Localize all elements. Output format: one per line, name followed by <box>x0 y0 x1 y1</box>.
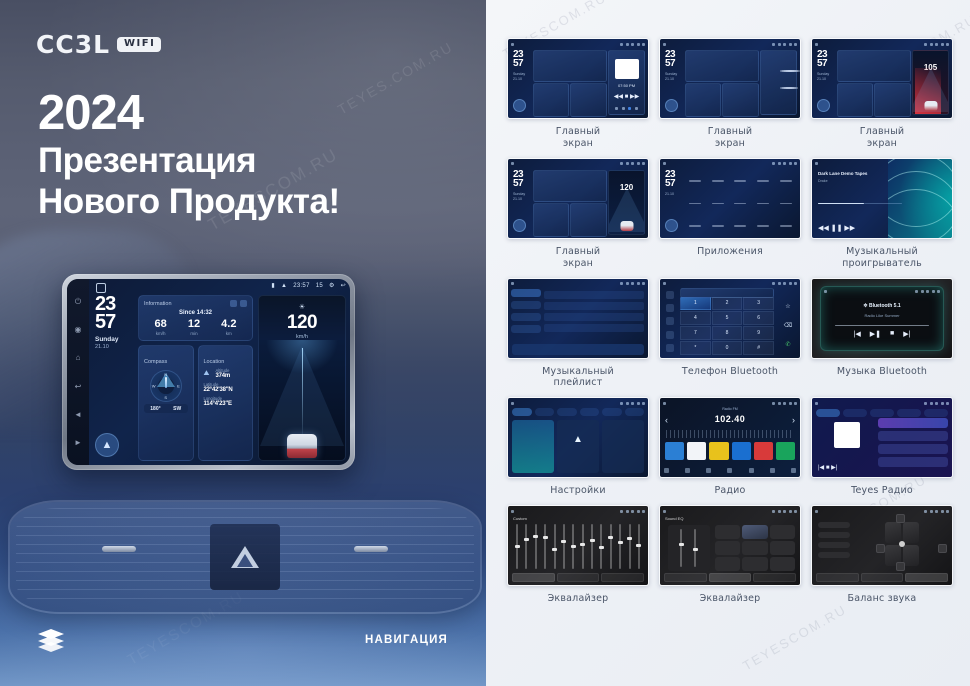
clock-icon <box>626 402 629 405</box>
volume-icon <box>631 510 634 513</box>
dial-key[interactable]: 7 <box>680 326 711 340</box>
back-icon <box>794 282 797 285</box>
eq-slider[interactable] <box>629 524 631 569</box>
eq-tabs[interactable] <box>664 573 796 582</box>
thumb-music-pane: 07:50 PM◀◀ ■ ▶▶ <box>608 50 645 115</box>
dial-key[interactable]: 3 <box>743 297 774 311</box>
thumb-home-screen-4[interactable]: 2357Sunday21.10120Главныйэкран <box>508 158 648 270</box>
previous-icon[interactable]: |◀ <box>854 330 861 338</box>
thumb-compass-card <box>685 83 721 117</box>
settings-tab[interactable] <box>535 408 555 416</box>
phone-sidebar[interactable] <box>663 289 677 355</box>
stat-value: 68 <box>155 319 167 330</box>
thumb-radio[interactable]: Radio FM‹›102.40Радио <box>660 397 800 497</box>
playlist-category[interactable] <box>511 289 541 297</box>
screenshot-preview[interactable]: Dark Lane Demo TapesDrake◀◀ ❚❚ ▶▶ <box>811 158 953 239</box>
gear-icon <box>789 402 792 405</box>
home-icon <box>663 43 666 46</box>
settings-icon[interactable] <box>666 344 674 352</box>
compass-w: W <box>152 384 156 389</box>
clock-icon <box>778 510 781 513</box>
radio-frequency: 102.40 <box>715 414 746 424</box>
volume-icon <box>631 43 634 46</box>
vent-wheel-right[interactable] <box>354 546 388 552</box>
thumb-status-bar <box>663 508 797 514</box>
playlist-row[interactable] <box>544 313 644 321</box>
home-button-icon[interactable] <box>96 283 106 293</box>
keypad-icon[interactable] <box>666 291 674 299</box>
speaker-front-left[interactable] <box>885 522 901 543</box>
home-icon <box>663 282 666 285</box>
st-icon[interactable] <box>770 468 775 473</box>
dial-key[interactable]: * <box>680 341 711 355</box>
balance-up-button[interactable] <box>896 514 905 523</box>
band-icon[interactable] <box>664 468 669 473</box>
clock-icon <box>626 162 629 165</box>
eq-tabs[interactable] <box>512 573 644 582</box>
album-art <box>615 59 639 79</box>
playlist-row[interactable] <box>544 291 644 299</box>
screenshot-preview[interactable]: |◀ ■ ▶| <box>811 397 953 478</box>
screenshot-gallery: TEYESCOM.RU TEYESCOM.RU TEYESCOM.RU TEYE… <box>486 0 970 686</box>
balance-left-button[interactable] <box>876 544 885 553</box>
settings-tab[interactable] <box>512 408 532 416</box>
dial-key[interactable]: 9 <box>743 326 774 340</box>
screenshot-preview[interactable]: 2357Sunday21.10 <box>659 38 801 119</box>
volume-icon <box>935 43 938 46</box>
dashboard-air-vents <box>10 502 480 612</box>
bluetooth-track: Radio Like Summer <box>821 313 943 318</box>
dial-key[interactable]: # <box>743 341 774 355</box>
station-preset[interactable] <box>754 442 773 460</box>
screenshot-caption: Эквалайзер <box>548 593 609 605</box>
eq-slider[interactable] <box>572 524 574 569</box>
eq-slider[interactable] <box>600 524 602 569</box>
eq-slider[interactable] <box>535 524 537 569</box>
search-icon[interactable] <box>666 317 674 325</box>
hero-heading: 2024 Презентация Нового Продукта! <box>38 88 340 223</box>
gear-icon[interactable]: ⚙ <box>329 282 335 289</box>
dial-pad[interactable]: 123456789*0# <box>680 297 774 355</box>
radio-toolbar[interactable] <box>664 467 796 474</box>
frequency-scale[interactable] <box>666 430 794 438</box>
information-actions[interactable] <box>230 300 247 307</box>
brand-name: CC3L <box>36 30 110 59</box>
player-controls[interactable]: ◀◀ ❚❚ ▶▶ <box>818 224 855 232</box>
screenshot-preview[interactable]: 235721.10 <box>659 158 801 239</box>
eq-slider[interactable] <box>638 524 640 569</box>
eq-tab[interactable] <box>753 573 796 582</box>
eq-icon[interactable] <box>727 468 732 473</box>
album-art <box>834 422 860 448</box>
wifi-icon: ▲ <box>512 434 644 445</box>
settings-tab[interactable] <box>557 408 577 416</box>
thumb-status-bar <box>511 161 645 167</box>
menu-icon[interactable] <box>791 468 796 473</box>
bluetooth-controls[interactable]: |◀▶❚■▶| <box>821 330 943 338</box>
thumb-info-card <box>533 50 607 82</box>
clock-icon <box>626 510 629 513</box>
home-icon <box>511 282 514 285</box>
screenshot-preview[interactable]: ✲ Bluetooth 5.1Radio Like Summer|◀▶❚■▶| <box>811 278 953 359</box>
road-visual <box>259 340 345 460</box>
home-icon <box>511 510 514 513</box>
settings-tabs[interactable] <box>512 408 644 416</box>
screenshot-caption: Эквалайзер <box>700 593 761 605</box>
teyes-station-row[interactable] <box>878 418 948 428</box>
eq-preset-grid[interactable] <box>715 525 795 571</box>
eq-slider[interactable] <box>544 524 546 569</box>
thumb-speed-pane: 105 <box>912 50 949 115</box>
eq-fader-panel[interactable] <box>668 525 710 571</box>
speed-widget[interactable]: ☀ 120 km/h <box>258 295 346 461</box>
clock-icon <box>626 43 629 46</box>
playlist-category[interactable] <box>511 313 541 321</box>
thumb-info-card <box>837 50 911 82</box>
phone-actions[interactable]: ☆⌫✆ <box>779 297 797 354</box>
latitude-row: Latitude 22°42'38"N <box>204 382 248 393</box>
stat-item: 12 min <box>188 319 200 336</box>
mute-icon[interactable]: ◉ <box>74 325 83 334</box>
backspace-icon[interactable]: ⌫ <box>784 322 792 329</box>
playlist-row[interactable] <box>544 302 644 310</box>
thumb-music-player[interactable]: Dark Lane Demo TapesDrake◀◀ ❚❚ ▶▶Музыкал… <box>812 158 952 270</box>
settings-cards[interactable]: ▲ <box>512 420 644 473</box>
head-unit-side-rail[interactable]: ⏻ ◉ ⌂ ↩ ◄ ► <box>67 279 89 465</box>
playlist-row[interactable] <box>544 324 644 332</box>
thumb-car <box>924 101 937 111</box>
station-preset[interactable] <box>732 442 751 460</box>
gear-icon <box>932 290 935 293</box>
screenshot-preview[interactable]: 2357Sunday21.10105 <box>811 38 953 119</box>
road-center-line <box>302 348 303 443</box>
clock-icon <box>921 290 924 293</box>
thumb-compass-card <box>533 83 569 117</box>
product-logo: CC3L WIFI <box>36 30 161 59</box>
screenshot-caption: Главныйэкран <box>556 126 601 150</box>
vent-wheel-left[interactable] <box>102 546 136 552</box>
eq-tab[interactable] <box>512 573 555 582</box>
thumb-sound-balance[interactable]: Баланс звука <box>812 505 952 605</box>
hazard-button[interactable] <box>210 524 280 590</box>
wifi-card[interactable]: ▲ <box>512 420 554 473</box>
thumb-bluetooth-phone[interactable]: 123456789*0#☆⌫✆Телефон Bluetooth <box>660 278 800 390</box>
home-icon <box>511 162 514 165</box>
dial-key[interactable]: 8 <box>712 326 743 340</box>
trip-stats: 68 km/h 12 min 4.2 <box>144 319 247 336</box>
eq-preset-button[interactable] <box>715 525 740 539</box>
eq-preset-button[interactable] <box>770 557 795 571</box>
contacts-icon[interactable] <box>666 304 674 312</box>
signal-icon <box>772 43 775 46</box>
station-preset[interactable] <box>776 442 795 460</box>
app-grid[interactable] <box>685 169 796 234</box>
back-icon <box>794 162 797 165</box>
gear-icon <box>789 162 792 165</box>
track-time: 07:50 PM <box>609 83 644 88</box>
list-icon[interactable] <box>706 468 711 473</box>
thumb-home-screen-3[interactable]: 2357Sunday21.10105Главныйэкран <box>812 38 952 150</box>
bluetooth-card: ✲ Bluetooth 5.1Radio Like Summer|◀▶❚■▶| <box>820 286 944 351</box>
thumb-status-bar <box>663 400 797 406</box>
settings-tab[interactable] <box>602 408 622 416</box>
thumb-clock: 2357 <box>665 50 675 68</box>
volume-up-icon[interactable]: ► <box>74 438 83 447</box>
eq-slider[interactable] <box>516 524 518 569</box>
screenshot-preview[interactable]: 123456789*0#☆⌫✆ <box>659 278 801 359</box>
thumb-location-card <box>570 203 607 237</box>
clock-icon <box>778 282 781 285</box>
compass-needle <box>165 377 167 388</box>
thumb-bluetooth-music[interactable]: ✲ Bluetooth 5.1Radio Like Summer|◀▶❚■▶|М… <box>812 278 952 390</box>
thumb-nav-button[interactable] <box>513 99 526 112</box>
signal-icon <box>924 43 927 46</box>
screenshot-caption: Настройки <box>550 485 605 497</box>
playlist-tracks[interactable] <box>544 291 644 342</box>
speaker-front-right[interactable] <box>903 522 919 543</box>
eq-preset-button[interactable] <box>742 557 767 571</box>
presentation-page: TEYESCOM.RU TEYESCOM.RU TEYES.COM.RU CC3… <box>0 0 970 686</box>
playlist-category[interactable] <box>511 301 541 309</box>
thumb-home-screen-1[interactable]: 2357Sunday21.1007:50 PM◀◀ ■ ▶▶Главныйэкр… <box>508 38 648 150</box>
call-icon[interactable]: ✆ <box>785 341 790 348</box>
thumb-nav-button[interactable] <box>817 99 830 112</box>
compass-direction: SW <box>173 406 181 412</box>
thumb-teyes-radio[interactable]: |◀ ■ ▶|Teyes Радио <box>812 397 952 497</box>
now-playing-bar[interactable] <box>512 344 644 355</box>
mountain-icon: ⛰ <box>204 370 213 377</box>
clock-icon <box>626 282 629 285</box>
status-bar: ▮ ▲ 23:57 15 ⚙ ↩ <box>271 282 346 289</box>
thumb-status-bar <box>824 289 940 295</box>
thumb-equalizer-2[interactable]: Sound EQЭквалайзер <box>660 505 800 605</box>
dial-key[interactable]: 4 <box>680 311 711 325</box>
signal-icon <box>772 162 775 165</box>
station-preset[interactable] <box>665 442 684 460</box>
back-icon[interactable]: ↩ <box>341 282 346 289</box>
station-presets[interactable] <box>665 442 795 460</box>
compass-widget[interactable]: Compass N S W E <box>138 345 194 461</box>
dial-key[interactable]: 5 <box>712 311 743 325</box>
screenshot-preview[interactable]: ▲ <box>507 397 649 478</box>
gear-icon <box>941 43 944 46</box>
thumb-compass-card <box>533 203 569 237</box>
compass-rose-icon: N S W E <box>150 370 182 402</box>
balance-tabs[interactable] <box>816 573 948 582</box>
thumb-applications[interactable]: 235721.10Приложения <box>660 158 800 270</box>
thumb-date: Sunday21.10 <box>665 72 677 82</box>
thumb-status-bar <box>815 41 949 47</box>
navigation-button[interactable]: ▲ <box>95 433 119 457</box>
volume-icon <box>631 402 634 405</box>
home-icon <box>815 402 818 405</box>
thumb-nav-button[interactable] <box>665 99 678 112</box>
speaker-rear-right[interactable] <box>903 545 919 566</box>
expand-icon[interactable] <box>240 300 247 307</box>
player-controls[interactable]: ◀◀ ■ ▶▶ <box>609 93 644 100</box>
eq-tab[interactable] <box>905 573 948 582</box>
back-icon[interactable]: ↩ <box>74 382 83 391</box>
balance-down-button[interactable] <box>896 562 905 571</box>
fader[interactable] <box>694 529 696 567</box>
station-preset[interactable] <box>687 442 706 460</box>
bluetooth-title: ✲ Bluetooth 5.1 <box>821 303 943 309</box>
back-icon <box>794 510 797 513</box>
thumb-equalizer-1[interactable]: CustomЭквалайзер <box>508 505 648 605</box>
thumb-music-playlist[interactable]: Музыкальныйплейлист <box>508 278 648 390</box>
eq-preset-button[interactable] <box>742 541 767 555</box>
gear-icon <box>637 282 640 285</box>
headlight-icon: ☀ <box>299 303 305 311</box>
compass-s: S <box>164 395 167 400</box>
screenshot-preview[interactable]: 2357Sunday21.10120 <box>507 158 649 239</box>
balance-preset[interactable] <box>818 522 850 528</box>
home-icon[interactable]: ⌂ <box>74 353 83 362</box>
equalizer-sliders[interactable] <box>516 524 640 569</box>
search-icon[interactable] <box>685 468 690 473</box>
teyes-station-row[interactable] <box>878 431 948 441</box>
dial-key[interactable]: 2 <box>712 297 743 311</box>
eq-slider[interactable] <box>610 524 612 569</box>
screenshot-preview[interactable] <box>811 505 953 586</box>
settings-tab[interactable] <box>580 408 600 416</box>
player-footer[interactable] <box>613 107 640 110</box>
balance-right-button[interactable] <box>938 544 947 553</box>
power-icon[interactable]: ⏻ <box>74 297 83 306</box>
loc-icon[interactable] <box>749 468 754 473</box>
eq-tab[interactable] <box>709 573 752 582</box>
dial-key[interactable]: 0 <box>712 341 743 355</box>
teyes-controls[interactable]: |◀ ■ ▶| <box>818 464 837 471</box>
gear-icon <box>637 402 640 405</box>
stop-icon[interactable]: ■ <box>890 330 894 338</box>
favorite-icon[interactable]: ☆ <box>785 303 790 310</box>
altitude-value: 374m <box>216 373 231 379</box>
gallery-grid: 2357Sunday21.1007:50 PM◀◀ ■ ▶▶Главныйэкр… <box>508 38 952 605</box>
station-preset[interactable] <box>709 442 728 460</box>
prev-station-icon[interactable]: ‹ <box>665 415 668 425</box>
thumb-back-button[interactable] <box>665 219 678 232</box>
eq-tab[interactable] <box>601 573 644 582</box>
back-icon <box>642 402 645 405</box>
home-icon <box>511 43 514 46</box>
teyes-station-row[interactable] <box>878 444 948 454</box>
car-3d-model <box>287 434 317 458</box>
volume-icon <box>783 402 786 405</box>
signal-icon <box>620 510 623 513</box>
volume-icon <box>935 510 938 513</box>
eq-tab[interactable] <box>557 573 600 582</box>
eq-tab[interactable] <box>664 573 707 582</box>
thumb-settings[interactable]: ▲Настройки <box>508 397 648 497</box>
eq-slider[interactable] <box>619 524 621 569</box>
screenshot-preview[interactable]: 2357Sunday21.1007:50 PM◀◀ ■ ▶▶ <box>507 38 649 119</box>
screenshot-preview[interactable]: Radio FM‹›102.40 <box>659 397 801 478</box>
music-visualizer <box>888 159 952 238</box>
eq-slider[interactable] <box>582 524 584 569</box>
head-unit-screen[interactable]: ⏻ ◉ ⌂ ↩ ◄ ► ▮ ▲ 23:57 15 <box>67 279 350 465</box>
dial-key[interactable]: 1 <box>680 297 711 311</box>
carplay-card[interactable] <box>557 420 599 473</box>
eq-slider[interactable] <box>525 524 527 569</box>
balance-presets[interactable] <box>818 522 850 562</box>
screenshot-preview[interactable]: Sound EQ <box>659 505 801 586</box>
eq-slider[interactable] <box>563 524 565 569</box>
teyes-station-row[interactable] <box>878 457 948 467</box>
volume-down-icon[interactable]: ◄ <box>74 410 83 419</box>
information-card[interactable]: Information Since 14:32 <box>138 295 253 341</box>
next-icon[interactable]: ▶| <box>903 330 910 338</box>
eq-slider[interactable] <box>591 524 593 569</box>
next-station-icon[interactable]: › <box>792 415 795 425</box>
location-title: Location <box>204 359 225 365</box>
app-grid[interactable] <box>786 61 792 110</box>
eq-tab[interactable] <box>861 573 904 582</box>
compass-readout: 180° SW <box>144 404 188 413</box>
signal-icon <box>620 162 623 165</box>
balance-center-point[interactable] <box>899 541 905 547</box>
thumb-nav-button[interactable] <box>513 219 526 232</box>
screenshot-preview[interactable]: Custom <box>507 505 649 586</box>
balance-pad[interactable] <box>885 522 919 566</box>
screenshot-preview[interactable] <box>507 278 649 359</box>
balance-preset[interactable] <box>818 542 850 548</box>
hero-line-2: Нового Продукта! <box>38 182 340 223</box>
balance-preset[interactable] <box>818 552 850 558</box>
thumb-info-card <box>685 50 759 82</box>
more-card[interactable] <box>602 420 644 473</box>
eq-tab[interactable] <box>816 573 859 582</box>
home-icon <box>815 510 818 513</box>
dial-key[interactable]: 6 <box>743 311 774 325</box>
altitude-row: ⛰ Altitude 374m <box>204 368 248 379</box>
location-widget[interactable]: Location ⛰ Altitude 374m <box>198 345 254 461</box>
hero-year: 2024 <box>38 88 340 139</box>
thumb-app-pane <box>760 50 797 115</box>
thumb-home-screen-2[interactable]: 2357Sunday21.10Главныйэкран <box>660 38 800 150</box>
home-icon <box>511 402 514 405</box>
eq-preset-button[interactable] <box>742 525 767 539</box>
thumb-status-bar <box>815 400 949 406</box>
balance-preset[interactable] <box>818 532 850 538</box>
eq-preset-button[interactable] <box>715 557 740 571</box>
eq-slider[interactable] <box>554 524 556 569</box>
playlist-category[interactable] <box>511 325 541 333</box>
screenshot-caption: Главныйэкран <box>708 126 753 150</box>
home-widget-grid: 23 57 Sunday 21.10 ▲ Infor <box>95 295 346 461</box>
eq-preset-button[interactable] <box>770 541 795 555</box>
volume-icon <box>783 43 786 46</box>
call-log-icon[interactable] <box>666 331 674 339</box>
watermark: TEYESCOM.RU <box>740 602 849 674</box>
wifi-icon: ▲ <box>281 283 287 289</box>
teyes-tabs[interactable] <box>816 409 948 417</box>
teyes-station-list[interactable] <box>878 418 948 473</box>
back-icon <box>946 402 949 405</box>
refresh-icon[interactable] <box>230 300 237 307</box>
longitude-value: 114°4'23"E <box>204 401 248 407</box>
thumb-status-bar <box>511 508 645 514</box>
gear-icon <box>789 510 792 513</box>
fader[interactable] <box>680 529 682 567</box>
settings-tab[interactable] <box>625 408 645 416</box>
play-pause-icon[interactable]: ▶❚ <box>870 330 881 338</box>
home-icon <box>815 43 818 46</box>
eq-preset-button[interactable] <box>715 541 740 555</box>
eq-preset-button[interactable] <box>770 525 795 539</box>
back-icon <box>794 402 797 405</box>
altitude-block: Altitude 374m <box>216 368 231 379</box>
